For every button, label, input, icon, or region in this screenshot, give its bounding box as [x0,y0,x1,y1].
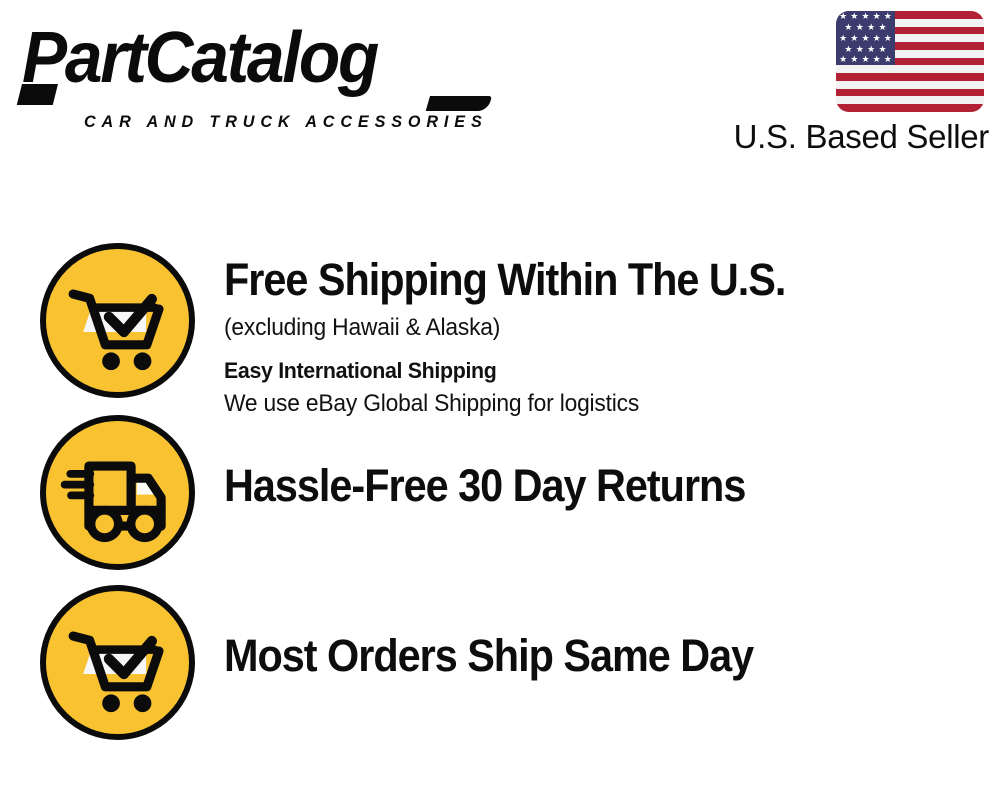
flag-canton: ★★★★★ ★★★★ ★★★★★ ★★★★ ★★★★★ [836,11,895,65]
flag-stripe [836,65,984,73]
feature-text-block: Hassle-Free 30 Day Returns [224,459,984,513]
brand-tagline: CAR AND TRUCK ACCESSORIES [84,113,488,131]
promo-banner: PartCatalog CAR AND TRUCK ACCESSORIES [0,0,1000,800]
flag-star-row: ★★★★ [836,44,895,55]
flag-stripe [836,89,984,97]
feature-headline: Most Orders Ship Same Day [224,629,923,683]
us-based-seller-label: U.S. Based Seller [723,118,989,156]
brand-wordmark: PartCatalog [22,22,377,94]
flag-stripe [836,73,984,81]
feature-item: Hassle-Free 30 Day Returns [0,415,1000,575]
brand-logo: PartCatalog CAR AND TRUCK ACCESSORIES [22,22,492,122]
shopping-cart-check-icon [40,585,195,740]
flag-star-row: ★★★★ [836,22,895,33]
delivery-truck-icon [40,415,195,570]
feature-headline: Free Shipping Within The U.S. [224,253,923,307]
flag-star-row: ★★★★★ [836,55,895,66]
feature-text-block: Free Shipping Within The U.S. (excluding… [224,253,984,420]
feature-item: Most Orders Ship Same Day [0,585,1000,745]
flag-stripe [836,81,984,89]
flag-star-row: ★★★★★ [836,11,895,22]
feature-subnote: (excluding Hawaii & Alaska) [224,311,946,344]
flag-stripe [836,96,984,104]
banner-header: PartCatalog CAR AND TRUCK ACCESSORIES [0,0,1000,175]
flag-star-row: ★★★★★ [836,33,895,44]
logo-descender-right [426,96,492,111]
feature-list: Free Shipping Within The U.S. (excluding… [0,175,1000,800]
feature-sub-strong: Easy International Shipping [224,355,946,387]
feature-item: Free Shipping Within The U.S. (excluding… [0,243,1000,413]
us-flag-icon: ★★★★★ ★★★★ ★★★★★ ★★★★ ★★★★★ [836,11,984,112]
feature-headline: Hassle-Free 30 Day Returns [224,459,923,513]
feature-text-block: Most Orders Ship Same Day [224,629,984,683]
flag-stripe [836,104,984,112]
shopping-cart-check-icon [40,243,195,398]
